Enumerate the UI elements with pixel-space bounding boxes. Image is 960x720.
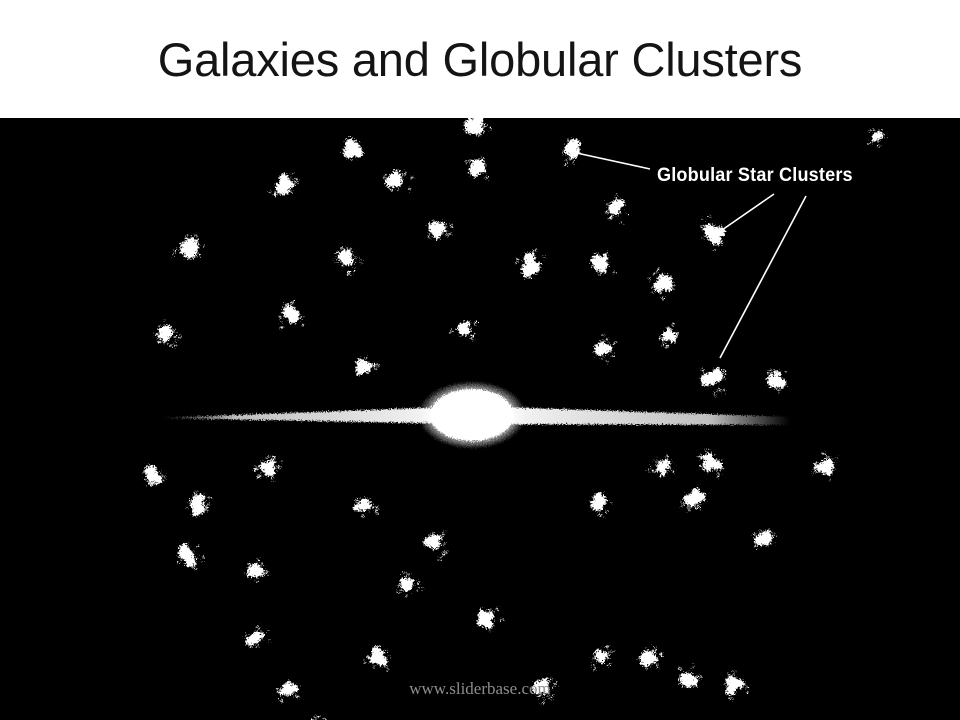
slide: Galaxies and Globular Clusters — [0, 0, 960, 720]
page-title: Galaxies and Globular Clusters — [0, 30, 960, 90]
night-sky-canvas — [0, 118, 960, 720]
title-band: Galaxies and Globular Clusters — [0, 0, 960, 118]
watermark: www.sliderbase.com — [0, 679, 960, 699]
globular-star-clusters-label: Globular Star Clusters — [657, 165, 853, 187]
astronomy-figure: Globular Star Clusters www.sliderbase.co… — [0, 118, 960, 720]
